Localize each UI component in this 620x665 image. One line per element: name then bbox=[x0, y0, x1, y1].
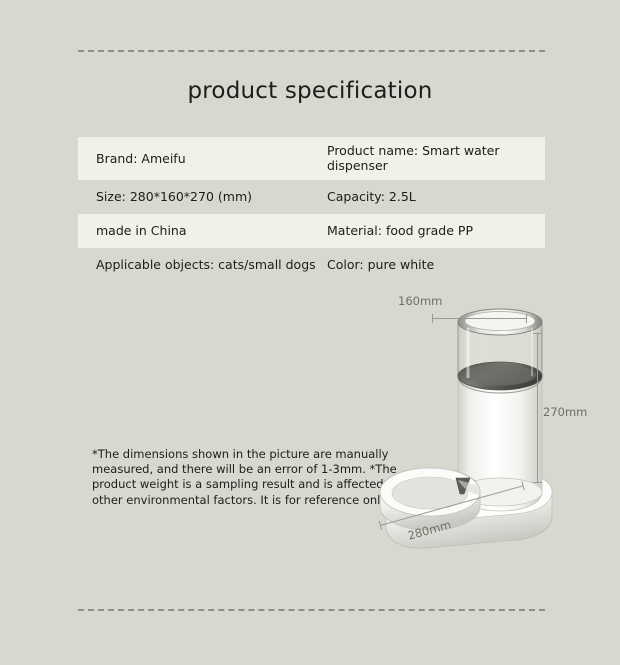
table-row: Brand: Ameifu Product name: Smart water … bbox=[78, 137, 545, 180]
spec-origin: made in China bbox=[78, 217, 327, 244]
divider-bottom bbox=[78, 609, 545, 611]
spec-product-name: Product name: Smart water dispenser bbox=[327, 137, 545, 180]
dimension-line-height bbox=[537, 333, 538, 483]
product-illustration: 160mm 270mm 280mm bbox=[340, 280, 610, 570]
spec-capacity: Capacity: 2.5L bbox=[327, 183, 545, 210]
spec-brand: Brand: Ameifu bbox=[78, 145, 327, 172]
tank-lid-inner bbox=[465, 312, 535, 331]
spec-material: Material: food grade PP bbox=[327, 217, 545, 244]
dimension-line-width bbox=[432, 318, 527, 319]
specification-table: Brand: Ameifu Product name: Smart water … bbox=[78, 137, 545, 282]
tank-base-inner bbox=[464, 365, 536, 386]
dimension-label-width: 160mm bbox=[398, 294, 442, 308]
product-specification-page: product specification Brand: Ameifu Prod… bbox=[0, 0, 620, 665]
table-row: made in China Material: food grade PP bbox=[78, 214, 545, 248]
table-row: Size: 280*160*270 (mm) Capacity: 2.5L bbox=[78, 180, 545, 214]
divider-top bbox=[78, 50, 545, 52]
page-title: product specification bbox=[0, 78, 620, 104]
spec-applicable-objects: Applicable objects: cats/small dogs bbox=[78, 251, 327, 278]
dimension-label-height: 270mm bbox=[543, 405, 587, 419]
table-row: Applicable objects: cats/small dogs Colo… bbox=[78, 248, 545, 282]
spec-size: Size: 280*160*270 (mm) bbox=[78, 183, 327, 210]
spec-color: Color: pure white bbox=[327, 251, 545, 278]
